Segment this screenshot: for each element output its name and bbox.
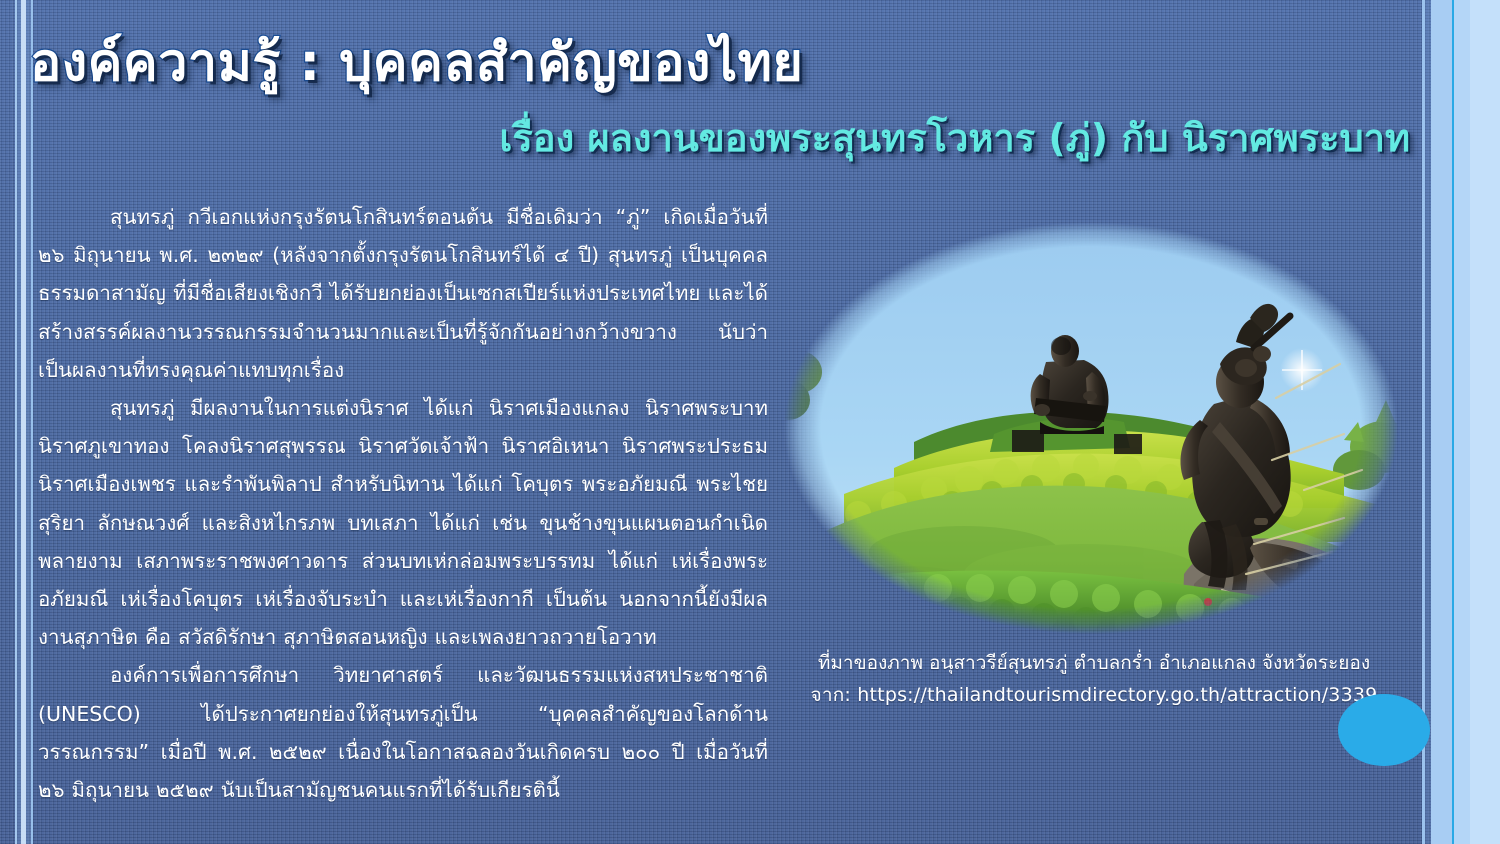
- decorative-circle: [1338, 694, 1430, 766]
- page-subtitle: เรื่อง ผลงานของพระสุนทรโวหาร (ภู่) กับ น…: [0, 116, 1432, 162]
- caption-source-text: ที่มาของภาพ อนุสาวรีย์สุนทรภู่ ตำบลกร่ำ …: [784, 648, 1404, 678]
- photo-frame: Thailand Tourism: [784, 222, 1398, 634]
- slide-canvas: องค์ความรู้ : บุคคลสำคัญของไทย เรื่อง ผล…: [0, 0, 1500, 844]
- paragraph-1: สุนทรภู่ กวีเอกแห่งกรุงรัตนโกสินทร์ตอนต้…: [38, 198, 768, 389]
- title-block: องค์ความรู้ : บุคคลสำคัญของไทย: [0, 34, 1420, 92]
- caption-source-url[interactable]: จาก: https://thailandtourismdirectory.go…: [784, 678, 1404, 712]
- monument-photo: Thailand Tourism: [784, 222, 1398, 634]
- svg-text:Thailand Tourism: Thailand Tourism: [792, 615, 898, 629]
- page-title: องค์ความรู้ : บุคคลสำคัญของไทย: [30, 34, 1420, 92]
- paragraph-2: สุนทรภู่ มีผลงานในการแต่งนิราศ ได้แก่ นิ…: [38, 389, 768, 656]
- body-text-column: สุนทรภู่ กวีเอกแห่งกรุงรัตนโกสินทร์ตอนต้…: [38, 198, 768, 809]
- photo-caption: ที่มาของภาพ อนุสาวรีย์สุนทรภู่ ตำบลกร่ำ …: [784, 648, 1404, 712]
- paragraph-3: องค์การเพื่อการศึกษา วิทยาศาสตร์ และวัฒน…: [38, 656, 768, 809]
